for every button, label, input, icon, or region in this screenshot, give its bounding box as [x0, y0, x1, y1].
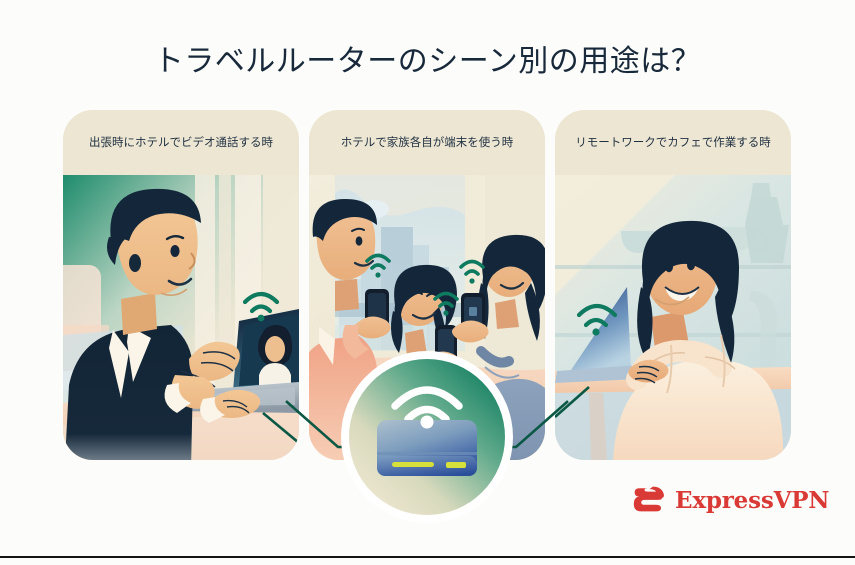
infographic-canvas: トラベルルーターのシーン別の用途は？ 出張時にホテルでビデオ通話する時: [0, 0, 855, 561]
brand-logo[interactable]: ExpressVPN: [633, 485, 829, 515]
scene-card-hotel-family[interactable]: ホテルで家族各自が端末を使う時: [309, 110, 545, 460]
scene-card-caption: 出張時にホテルでビデオ通話する時: [89, 134, 273, 152]
scene-card-header: ホテルで家族各自が端末を使う時: [309, 110, 545, 175]
scene-card-header: リモートワークでカフェで作業する時: [555, 110, 791, 175]
brand-name: ExpressVPN: [675, 487, 829, 514]
scene-card-caption: ホテルで家族各自が端末を使う時: [341, 134, 514, 152]
scene-card-remote-work-cafe[interactable]: リモートワークでカフェで作業する時: [555, 110, 791, 460]
scene-card-header: 出張時にホテルでビデオ通話する時: [63, 110, 299, 175]
bottom-divider: [0, 556, 855, 558]
scene-card-list: 出張時にホテルでビデオ通話する時: [63, 110, 792, 460]
scene-card-business-trip[interactable]: 出張時にホテルでビデオ通話する時: [63, 110, 299, 460]
scene-card-caption: リモートワークでカフェで作業する時: [575, 134, 771, 152]
expressvpn-e-logo-icon: [633, 485, 666, 515]
scene-illustration-family: [309, 175, 545, 460]
scene-illustration-cafe: [555, 175, 791, 460]
page-title: トラベルルーターのシーン別の用途は？: [0, 36, 855, 80]
scene-illustration-businessman: [63, 175, 299, 460]
